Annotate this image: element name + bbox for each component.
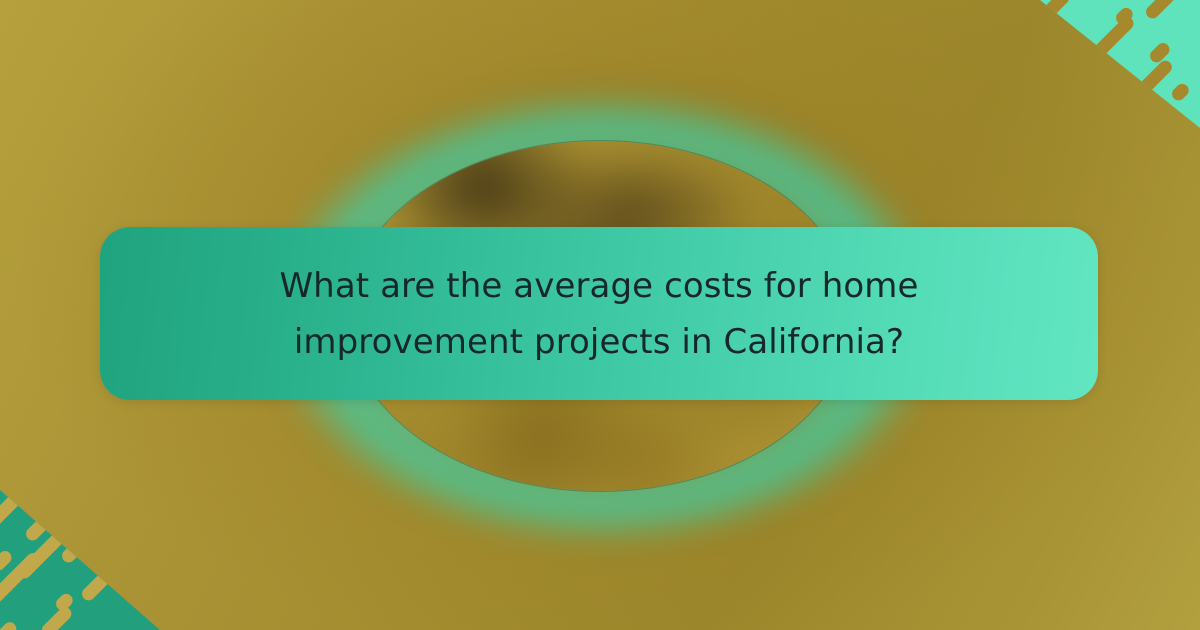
question-text: What are the average costs for home impr… bbox=[191, 258, 1007, 370]
social-card-canvas: What are the average costs for home impr… bbox=[0, 0, 1200, 630]
question-card[interactable]: What are the average costs for home impr… bbox=[100, 227, 1098, 400]
